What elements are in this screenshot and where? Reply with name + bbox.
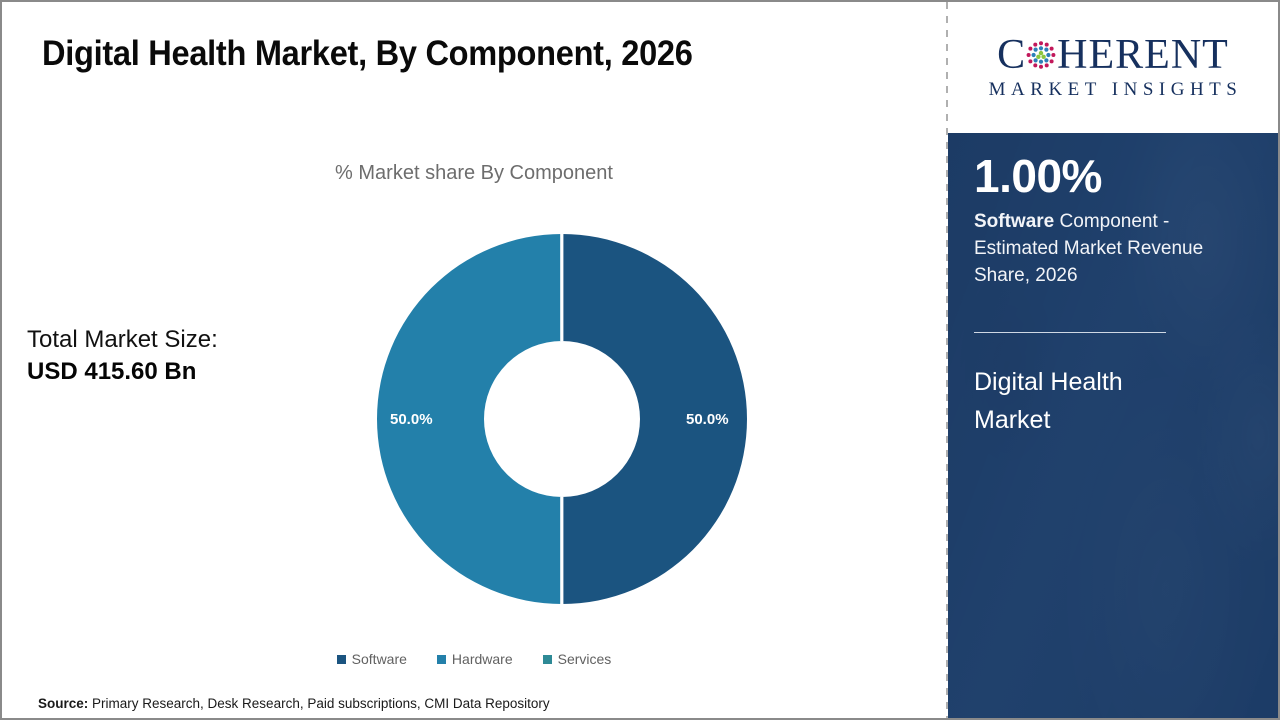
donut-label-hardware: 50.0% [390, 411, 433, 428]
legend-item-services[interactable]: Services [543, 651, 612, 667]
globe-dots-icon [1026, 40, 1056, 70]
source-label: Source: [38, 696, 88, 711]
legend-item-software[interactable]: Software [337, 651, 407, 667]
legend-swatch-services [543, 655, 552, 664]
infographic-page: Digital Health Market, By Component, 202… [0, 0, 1280, 720]
legend-label-software: Software [352, 651, 407, 667]
legend-label-services: Services [558, 651, 612, 667]
page-title: Digital Health Market, By Component, 202… [42, 34, 842, 74]
legend-swatch-hardware [437, 655, 446, 664]
chart-panel: Digital Health Market, By Component, 202… [2, 2, 946, 718]
legend-swatch-software [337, 655, 346, 664]
logo-letters-herent: HERENT [1057, 34, 1229, 76]
logo-tagline: MARKET INSIGHTS [984, 79, 1243, 101]
logo-letter-c: C [997, 34, 1026, 76]
donut-label-software: 50.0% [686, 411, 729, 428]
total-market-size-value: USD 415.60 Bn [27, 356, 327, 388]
source-line: Source: Primary Research, Desk Research,… [38, 696, 550, 711]
chart-legend: Software Hardware Services [2, 651, 946, 667]
logo-wordmark: C [997, 34, 1229, 76]
info-panel-content: 1.00% Software Component - Estimated Mar… [948, 151, 1278, 440]
stat-description: Software Component - Estimated Market Re… [974, 208, 1252, 290]
donut-separator-top [560, 234, 563, 341]
source-text: Primary Research, Desk Research, Paid su… [88, 696, 549, 711]
panel-divider-rule [974, 332, 1166, 333]
total-market-size-block: Total Market Size: USD 415.60 Bn [27, 324, 327, 387]
brand-panel: C [948, 2, 1278, 718]
legend-label-hardware: Hardware [452, 651, 513, 667]
info-panel: 1.00% Software Component - Estimated Mar… [948, 133, 1278, 718]
donut-separator-bottom [560, 497, 563, 604]
legend-item-hardware[interactable]: Hardware [437, 651, 513, 667]
total-market-size-label: Total Market Size: [27, 324, 327, 356]
logo: C [948, 2, 1278, 133]
stat-description-bold: Software [974, 211, 1054, 232]
stat-value: 1.00% [974, 151, 1252, 202]
chart-subtitle: % Market share By Component [2, 162, 946, 185]
market-name: Digital Health Market [974, 363, 1174, 441]
